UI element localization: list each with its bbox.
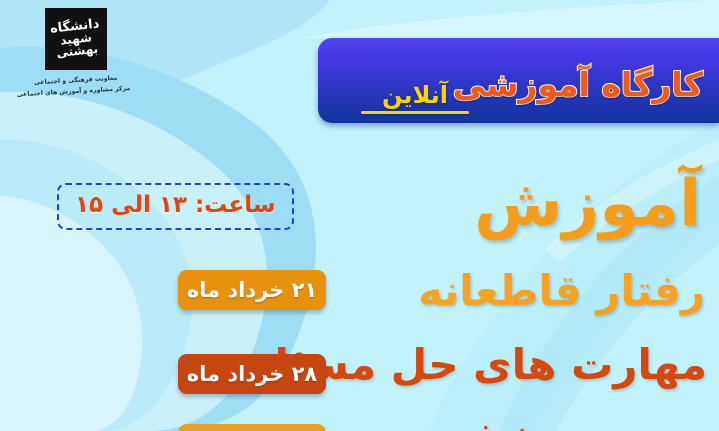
logo-caption: معاونت فرهنگی و اجتماعی مرکز مشاوره و آم… — [21, 72, 130, 101]
time-badge: ساعت: ۱۳ الی ۱۵ — [57, 183, 294, 230]
date-badge-2-label: ۲۸ خرداد ماه — [187, 364, 318, 385]
date-badge-1-label: ۲۱ خرداد ماه — [187, 280, 318, 301]
banner-online-group: آنلاین — [361, 83, 469, 114]
date-badge-1: ۲۱ خرداد ماه — [178, 270, 326, 310]
workshop-banner: کارگاه آموزشی آنلاین — [318, 38, 719, 123]
time-badge-label: ساعت: ۱۳ الی ۱۵ — [75, 194, 276, 217]
banner-online-label: آنلاین — [382, 83, 448, 110]
banner-title: کارگاه آموزشی — [453, 68, 703, 101]
university-logo: دانشگاه شهید بهشتی معاونت فرهنگی و اجتما… — [22, 8, 130, 98]
headline-education: آموزش — [474, 172, 701, 236]
date-badge-3: ۴ تیر ماه — [178, 424, 326, 431]
workshop-poster: دانشگاه شهید بهشتی معاونت فرهنگی و اجتما… — [0, 0, 719, 431]
banner-inner: کارگاه آموزشی آنلاین — [318, 38, 719, 123]
date-badge-2: ۲۸ خرداد ماه — [178, 354, 326, 394]
headline-anger-management: مدیریت خشم — [432, 416, 705, 431]
banner-online-underline — [361, 111, 469, 114]
university-seal-icon: دانشگاه شهید بهشتی — [45, 8, 107, 70]
headline-assertive-behavior: رفتار قاطعانه — [418, 270, 705, 312]
